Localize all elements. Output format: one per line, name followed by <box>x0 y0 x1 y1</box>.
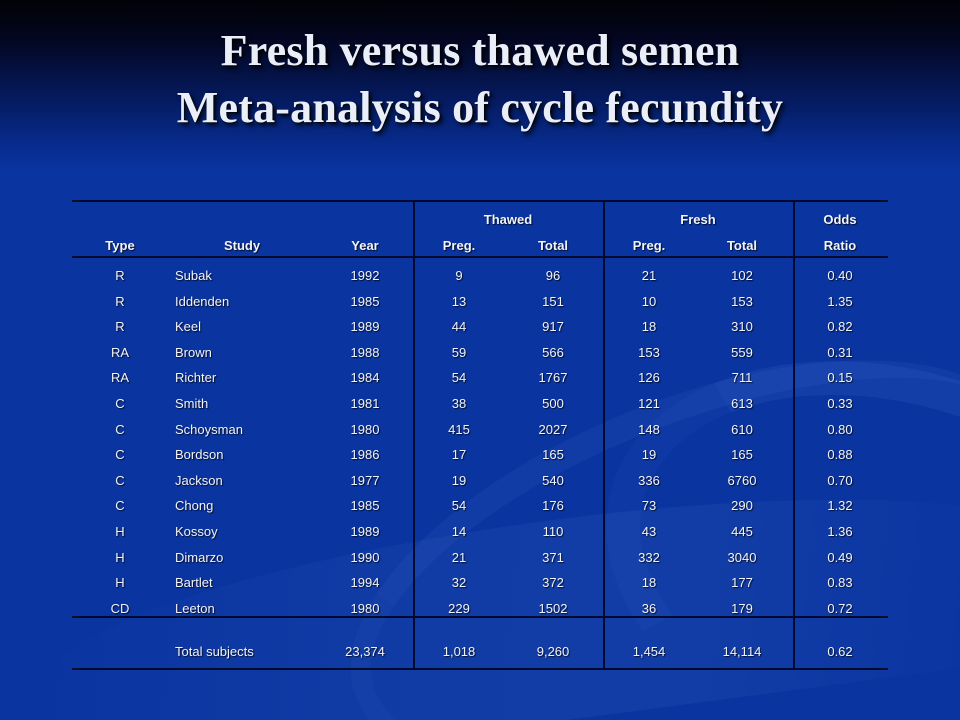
cell-type: H <box>115 550 124 565</box>
column-header-year: Year <box>351 238 378 253</box>
column-header-fresh-total: Total <box>727 238 757 253</box>
title-line-2: Meta-analysis of cycle fecundity <box>0 79 960 136</box>
cell-year: 1980 <box>351 601 380 616</box>
cell-thawed-preg: 54 <box>452 498 466 513</box>
cell-year: 1980 <box>351 422 380 437</box>
cell-fresh-preg: 43 <box>642 524 656 539</box>
table-divider-odds-left <box>793 200 795 668</box>
cell-thawed-total: 566 <box>542 345 564 360</box>
cell-year: 1984 <box>351 370 380 385</box>
cell-thawed-total: 96 <box>546 268 560 283</box>
cell-fresh-preg: 153 <box>638 345 660 360</box>
cell-odds-ratio: 0.83 <box>827 575 852 590</box>
column-header-thawed-total: Total <box>538 238 568 253</box>
cell-type: RA <box>111 370 129 385</box>
cell-study: Keel <box>175 319 201 334</box>
cell-odds-ratio: 0.70 <box>827 473 852 488</box>
cell-fresh-total: 711 <box>732 370 753 385</box>
cell-fresh-total: 613 <box>731 396 753 411</box>
cell-fresh-total: 3040 <box>728 550 757 565</box>
cell-study: Leeton <box>175 601 215 616</box>
title-line-1: Fresh versus thawed semen <box>0 22 960 79</box>
cell-thawed-total: 151 <box>542 294 564 309</box>
cell-type: R <box>115 319 124 334</box>
cell-study: Kossoy <box>175 524 218 539</box>
cell-thawed-total: 2027 <box>539 422 568 437</box>
cell-thawed-preg: 19 <box>452 473 466 488</box>
cell-fresh-total: 610 <box>731 422 753 437</box>
cell-type: C <box>115 473 124 488</box>
cell-thawed-preg: 14 <box>452 524 466 539</box>
column-header-fresh-preg: Preg. <box>633 238 666 253</box>
cell-fresh-preg: 126 <box>638 370 660 385</box>
cell-type: C <box>115 498 124 513</box>
cell-fresh-preg: 19 <box>642 447 656 462</box>
cell-odds-ratio: 0.15 <box>827 370 852 385</box>
cell-type: H <box>115 575 124 590</box>
cell-year: 1990 <box>351 550 380 565</box>
cell-year: 1988 <box>351 345 380 360</box>
cell-study: Smith <box>175 396 208 411</box>
cell-fresh-total: 6760 <box>728 473 757 488</box>
cell-thawed-total: 110 <box>543 524 564 539</box>
cell-odds-ratio: 0.40 <box>827 268 852 283</box>
cell-year: 1994 <box>351 575 380 590</box>
meta-analysis-table: Thawed Fresh Odds Type Study Year Preg. … <box>72 200 888 668</box>
column-header-ratio: Ratio <box>824 238 857 253</box>
cell-type: RA <box>111 345 129 360</box>
cell-odds-ratio: 0.31 <box>827 345 852 360</box>
cell-study: Bordson <box>175 447 223 462</box>
cell-year: 1986 <box>351 447 380 462</box>
cell-thawed-preg: 32 <box>452 575 466 590</box>
cell-type: C <box>115 447 124 462</box>
cell-thawed-total: 371 <box>542 550 564 565</box>
cell-fresh-preg: 18 <box>642 319 656 334</box>
cell-fresh-preg: 148 <box>638 422 660 437</box>
cell-thawed-total: 176 <box>542 498 564 513</box>
cell-year: 1989 <box>351 524 380 539</box>
column-header-study: Study <box>224 238 260 253</box>
cell-thawed-total: 1502 <box>539 601 568 616</box>
cell-fresh-preg: 336 <box>638 473 660 488</box>
cell-thawed-total: 500 <box>542 396 564 411</box>
cell-fresh-preg: 36 <box>642 601 656 616</box>
cell-year: 1989 <box>351 319 380 334</box>
cell-thawed-preg: 54 <box>452 370 466 385</box>
cell-fresh-preg: 73 <box>642 498 656 513</box>
cell-study: Richter <box>175 370 216 385</box>
cell-odds-ratio: 1.32 <box>827 498 852 513</box>
cell-thawed-preg: 44 <box>452 319 466 334</box>
cell-fresh-preg: 121 <box>638 396 660 411</box>
cell-type: C <box>115 396 124 411</box>
total-thawed-preg: 1,018 <box>443 644 476 659</box>
cell-thawed-total: 540 <box>542 473 564 488</box>
cell-type: CD <box>111 601 130 616</box>
total-year: 23,374 <box>345 644 385 659</box>
table-divider-fresh-left <box>603 200 605 668</box>
cell-study: Jackson <box>175 473 223 488</box>
table-rule-top <box>72 200 888 202</box>
group-header-fresh: Fresh <box>680 212 715 227</box>
table-rule-above-totals <box>72 616 888 618</box>
cell-odds-ratio: 0.33 <box>827 396 852 411</box>
cell-fresh-total: 559 <box>731 345 753 360</box>
total-label: Total subjects <box>175 644 254 659</box>
table-rule-bottom <box>72 668 888 670</box>
cell-thawed-preg: 21 <box>452 550 466 565</box>
cell-odds-ratio: 0.80 <box>827 422 852 437</box>
cell-thawed-preg: 17 <box>452 447 466 462</box>
cell-study: Brown <box>175 345 212 360</box>
total-fresh-preg: 1,454 <box>633 644 666 659</box>
cell-thawed-preg: 9 <box>455 268 462 283</box>
slide-canvas: Fresh versus thawed semen Meta-analysis … <box>0 0 960 720</box>
cell-thawed-preg: 59 <box>452 345 466 360</box>
cell-fresh-preg: 10 <box>642 294 656 309</box>
cell-type: H <box>115 524 124 539</box>
cell-odds-ratio: 1.36 <box>827 524 852 539</box>
cell-study: Iddenden <box>175 294 229 309</box>
cell-thawed-preg: 38 <box>452 396 466 411</box>
cell-fresh-total: 177 <box>731 575 753 590</box>
page-title: Fresh versus thawed semen Meta-analysis … <box>0 22 960 136</box>
cell-thawed-total: 917 <box>542 319 564 334</box>
cell-study: Bartlet <box>175 575 213 590</box>
cell-odds-ratio: 0.72 <box>827 601 852 616</box>
cell-thawed-total: 1767 <box>539 370 568 385</box>
cell-year: 1981 <box>351 396 380 411</box>
cell-year: 1992 <box>351 268 380 283</box>
cell-thawed-preg: 13 <box>452 294 466 309</box>
cell-year: 1985 <box>351 498 380 513</box>
group-header-thawed: Thawed <box>484 212 532 227</box>
cell-fresh-total: 165 <box>731 447 753 462</box>
cell-year: 1977 <box>351 473 380 488</box>
cell-fresh-preg: 18 <box>642 575 656 590</box>
cell-fresh-preg: 332 <box>638 550 660 565</box>
group-header-odds: Odds <box>823 212 856 227</box>
cell-type: R <box>115 294 124 309</box>
cell-year: 1985 <box>351 294 380 309</box>
cell-thawed-preg: 229 <box>448 601 470 616</box>
cell-study: Dimarzo <box>175 550 223 565</box>
cell-study: Schoysman <box>175 422 243 437</box>
cell-fresh-total: 290 <box>731 498 753 513</box>
cell-odds-ratio: 0.49 <box>827 550 852 565</box>
total-thawed-total: 9,260 <box>537 644 570 659</box>
cell-type: C <box>115 422 124 437</box>
cell-odds-ratio: 0.88 <box>827 447 852 462</box>
cell-thawed-total: 165 <box>542 447 564 462</box>
cell-fresh-total: 153 <box>731 294 753 309</box>
column-header-type: Type <box>105 238 134 253</box>
cell-fresh-preg: 21 <box>642 268 656 283</box>
cell-study: Subak <box>175 268 212 283</box>
table-rule-under-headers <box>72 256 888 258</box>
cell-fresh-total: 102 <box>731 268 753 283</box>
cell-thawed-preg: 415 <box>448 422 470 437</box>
table-divider-thawed-left <box>413 200 415 668</box>
cell-study: Chong <box>175 498 213 513</box>
cell-fresh-total: 310 <box>731 319 753 334</box>
cell-thawed-total: 372 <box>542 575 564 590</box>
total-fresh-total: 14,114 <box>723 644 762 659</box>
cell-type: R <box>115 268 124 283</box>
column-header-thawed-preg: Preg. <box>443 238 476 253</box>
cell-odds-ratio: 1.35 <box>827 294 852 309</box>
total-odds-ratio: 0.62 <box>827 644 852 659</box>
cell-fresh-total: 445 <box>731 524 753 539</box>
cell-odds-ratio: 0.82 <box>827 319 852 334</box>
cell-fresh-total: 179 <box>731 601 753 616</box>
